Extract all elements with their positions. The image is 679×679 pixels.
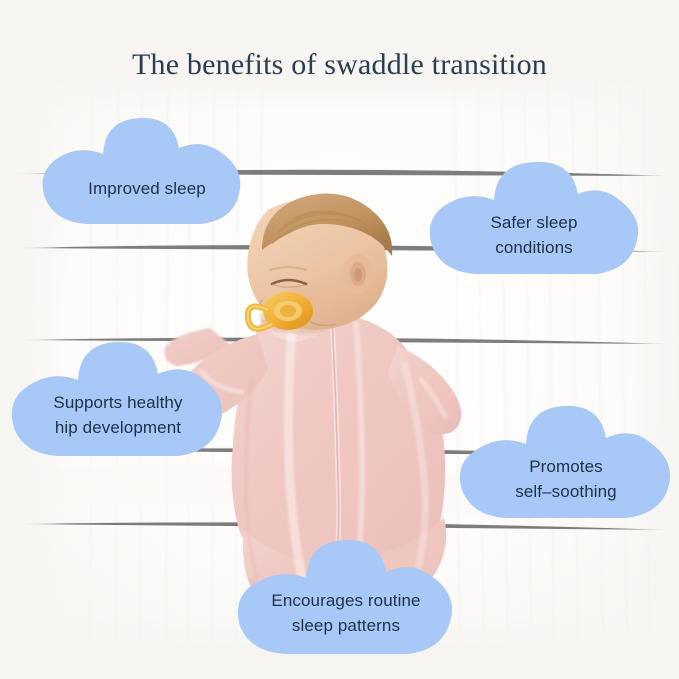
- infographic-canvas: The benefits of swaddle transition Impro…: [0, 0, 679, 679]
- page-title: The benefits of swaddle transition: [0, 48, 679, 82]
- benefit-cloud-hip-development: Supports healthy hip development: [2, 340, 234, 468]
- benefit-cloud-safer-sleep: Safer sleep conditions: [420, 160, 648, 288]
- cloud-shape-icon: [33, 114, 261, 242]
- cloud-shape-icon: [452, 404, 679, 532]
- cloud-shape-icon: [2, 340, 234, 468]
- cloud-shape-icon: [228, 538, 464, 666]
- benefit-cloud-improved-sleep: Improved sleep: [33, 114, 261, 242]
- benefit-cloud-sleep-patterns: Encourages routine sleep patterns: [228, 538, 464, 666]
- benefit-cloud-self-soothing: Promotes self–soothing: [452, 404, 679, 532]
- cloud-shape-icon: [420, 160, 648, 288]
